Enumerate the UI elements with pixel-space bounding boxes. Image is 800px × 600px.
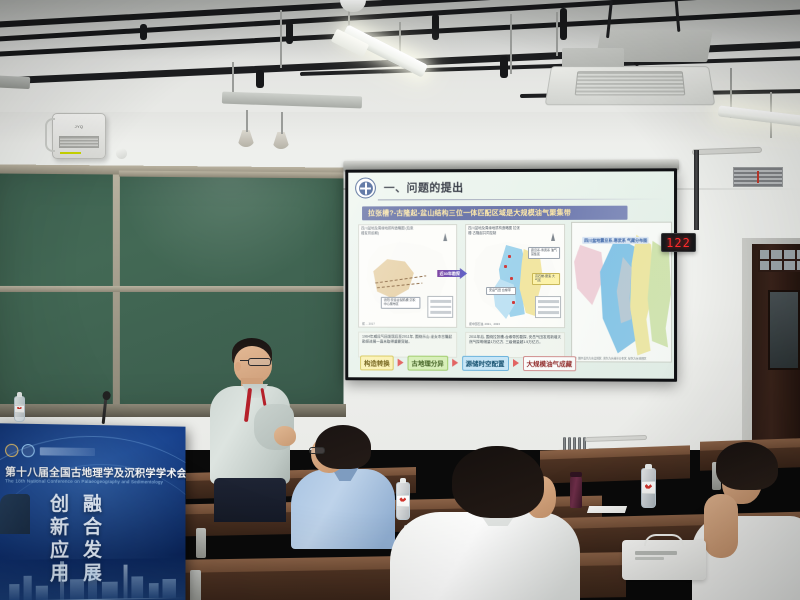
tote-strap (644, 534, 684, 546)
map-panel-right: 四川盆地震旦系-寒武系 气藏分布图 注: 图中蓝色为台盆相区, 黄色为台缘带分布… (571, 222, 672, 363)
hanger-rod (280, 10, 282, 68)
slide-banner-text: 拉张槽?-古隆起-盆山结构三位一体匹配区域是大规模油气聚集带 (368, 208, 571, 218)
blackboard-glare (114, 167, 342, 288)
bottle-label (642, 481, 655, 494)
device-vent (59, 136, 99, 148)
wall-smoke-detector (116, 148, 127, 159)
conduit-clamp (286, 22, 293, 44)
device-brand-label: JYQ (53, 124, 105, 129)
tote-print (635, 557, 664, 560)
chain-arrow-icon (512, 359, 518, 367)
skyline-building (24, 576, 32, 600)
conference-tote-bag[interactable] (622, 540, 706, 580)
presenter-ear (235, 362, 241, 371)
audience-arm (704, 494, 738, 558)
slide-header: 一、问题的提出 (348, 171, 674, 202)
bottle-label (397, 495, 409, 507)
pendant-cord (281, 112, 283, 134)
lecture-hall-scene: JYQ 一、问题的提出 (0, 0, 800, 600)
compass-icon (441, 229, 448, 243)
presenter-glasses (248, 358, 271, 366)
map-right-caption: 四川盆地及周缘地质构造略图 拉张槽-古隆起共同控制 (468, 226, 524, 235)
microphone-head (102, 391, 111, 401)
slogan-char: 新 (50, 518, 69, 538)
banner-skyline-graphic (0, 554, 186, 600)
water-bottle[interactable] (396, 482, 410, 520)
chain-arrow-icon (452, 359, 458, 367)
device-conduit (45, 118, 55, 152)
water-bottle[interactable] (641, 468, 656, 508)
wall-vent-grille (733, 167, 783, 187)
ac-grille (575, 71, 686, 95)
skyline-building (149, 583, 159, 598)
audience-torso (291, 469, 395, 549)
door-glass-pane (768, 290, 800, 370)
skyline-building (88, 569, 97, 599)
audience-member-blue-shirt (295, 425, 391, 545)
map-right-callout-3: 安岳气田 台缘带 (486, 287, 516, 295)
map-left-caption: 四川盆地及周缘地质构造略图 (拉张槽发育前期) (361, 226, 416, 235)
conduit-clamp (140, 24, 147, 40)
map-right-callout-1: 震旦系-寒武系 油气富集区 (528, 247, 560, 259)
banner-logos (5, 444, 95, 458)
slogan-char: 创 (50, 495, 69, 515)
bench-frame-far (196, 528, 206, 558)
audience-torso (390, 512, 580, 600)
gasfield-marker (508, 255, 511, 258)
bottle-cap (645, 464, 652, 469)
skyline-building (36, 586, 48, 600)
audience-member-left (0, 494, 30, 534)
skyline-building (9, 584, 19, 600)
transition-arrow-label: 近30年勘探 (440, 271, 460, 277)
skyline-building (70, 579, 84, 599)
organizer-wordmark (40, 447, 95, 456)
organizer-logo-icon (5, 444, 18, 457)
chain-chip-4: 大规模油气成藏 (522, 356, 576, 371)
conduit-clamp (432, 14, 439, 40)
gasfield-marker (512, 301, 515, 304)
panel-region-pink (574, 245, 604, 305)
bench-frame-near (190, 570, 201, 600)
conduit-clamp (500, 56, 508, 78)
pendant-lamp (237, 130, 255, 147)
presenter-hand (274, 426, 296, 446)
slide-title: 一、问题的提出 (384, 179, 464, 195)
hanger-rod (232, 62, 234, 96)
map-right: 四川盆地及周缘地质构造略图 拉张槽-古隆起共同控制 震旦系-寒武系 油气富集区 (465, 224, 565, 328)
presenter-trousers (214, 478, 286, 522)
skyline-building (131, 576, 143, 598)
projection-screen: 一、问题的提出 拉张槽?-古隆起-盆山结构三位一体匹配区域是大规模油气聚集带 四… (343, 159, 679, 383)
presentation-slide: 一、问题的提出 拉张槽?-古隆起-盆山结构三位一体匹配区域是大规模油气聚集带 四… (348, 171, 674, 378)
tote-print (635, 551, 677, 555)
map-right-legend (535, 296, 561, 318)
ceiling-ac-unit (540, 30, 710, 108)
presenter (196, 338, 308, 518)
skyline-building (102, 582, 118, 599)
blackboard-divider-horizontal (0, 286, 343, 292)
title-underline (378, 199, 666, 201)
handout-papers[interactable] (587, 506, 627, 513)
compass-icon (549, 229, 556, 243)
skyline-building (162, 579, 175, 598)
screen-surface: 一、问题的提出 拉张槽?-古隆起-盆山结构三位一体匹配区域是大规模油气聚集带 四… (345, 168, 677, 382)
door-transom-window (758, 250, 800, 272)
slide-banner: 拉张槽?-古隆起-盆山结构三位一体匹配区域是大规模油气聚集带 (362, 206, 627, 221)
chain-chip-2: 古地理分异 (408, 355, 448, 370)
slogan-char: 合 (83, 518, 102, 538)
map-left-callout: 德阳-安岳古裂陷槽 沉积中心展布区 (381, 297, 421, 309)
audience-member-white-shirt-front (418, 446, 568, 600)
pendant-cord (246, 110, 248, 132)
slogan-char: 融 (83, 495, 102, 515)
chain-arrow-icon (398, 359, 404, 367)
thermos-lid (570, 472, 582, 477)
map-left-footnote: 据 ... 2017 (362, 322, 375, 326)
process-chain: 构造转换 古地理分异 源储时空配置 大规模油气成藏 (360, 354, 660, 371)
chain-chip-3: 源储时空配置 (462, 355, 509, 370)
water-bottle[interactable] (14, 396, 25, 422)
organizer-logo-icon (21, 444, 34, 457)
gasfield-marker (504, 265, 507, 268)
audience-hair (452, 446, 544, 518)
university-emblem-icon (355, 178, 376, 199)
led-timer-value: 122 (666, 236, 691, 250)
map-right-callout-2: 高石梯-磨溪 大气区 (532, 273, 560, 285)
wall-pipe (694, 150, 699, 230)
panel-map-label: 四川盆地震旦系-寒武系 气藏分布图 (582, 237, 649, 244)
device-led-strip (60, 152, 81, 154)
audience-hair (716, 442, 778, 490)
slide-content: 四川盆地及周缘地质构造略图 (拉张槽发育前期) 德阳-安岳古裂陷槽 沉积中心展布… (358, 224, 672, 375)
bottle-cap (400, 478, 407, 483)
map-left-legend (427, 296, 453, 318)
chain-chip-1: 构造转换 (360, 355, 394, 370)
wall-mounted-device: JYQ (52, 113, 106, 159)
hanger-rod (510, 14, 512, 74)
audience-glasses (309, 447, 325, 454)
bottle-label (15, 405, 24, 413)
skyline-tower (60, 561, 64, 599)
audience-torso (0, 494, 30, 534)
gasfield-marker (510, 277, 513, 280)
pendant-lamp (272, 132, 290, 149)
bottle-cap (17, 392, 22, 397)
thermos-flask[interactable] (570, 476, 582, 508)
conduit-clamp (256, 70, 264, 88)
led-timer-display: 122 (661, 233, 696, 252)
ceiling-tube-housing (0, 75, 30, 89)
map-right-footnote: 据中国石油, 2021、2023 (469, 322, 500, 326)
conference-subtitle: The 18th National Conference on Palaeoge… (5, 478, 180, 484)
skyline-tower (124, 565, 128, 599)
